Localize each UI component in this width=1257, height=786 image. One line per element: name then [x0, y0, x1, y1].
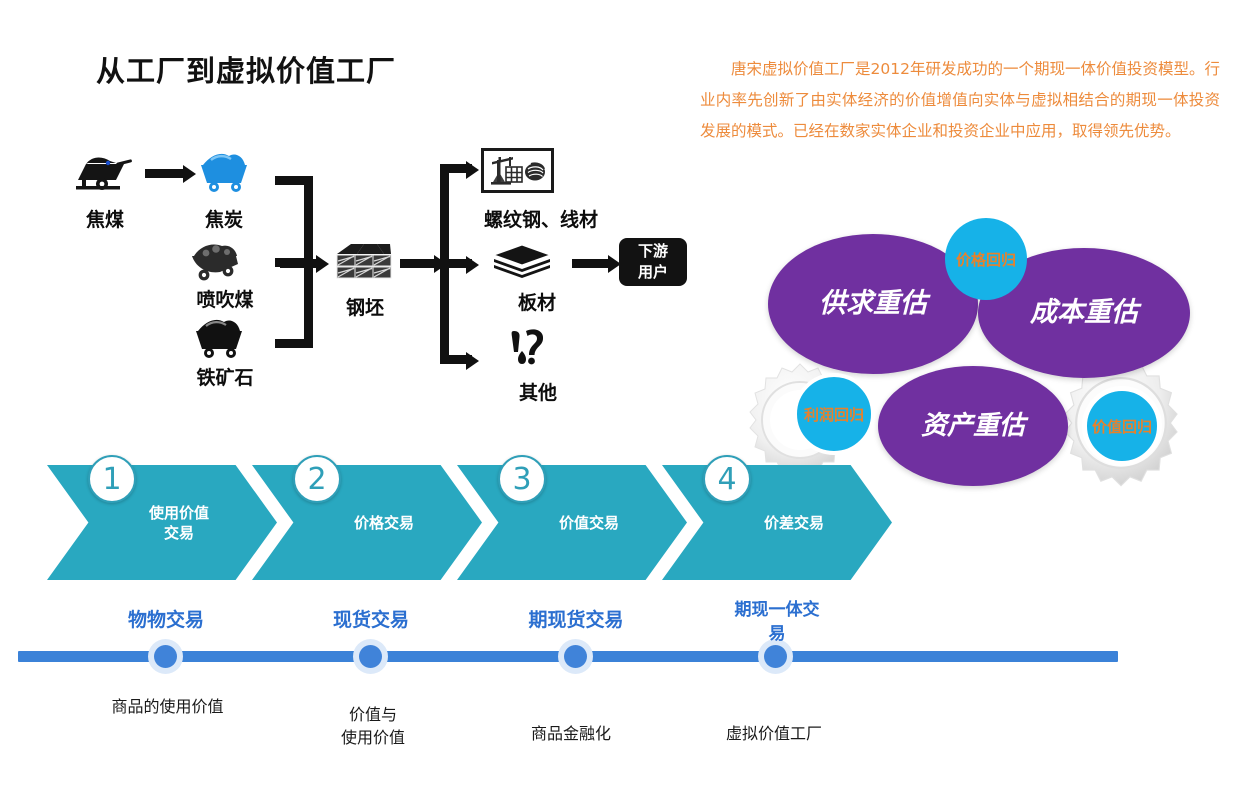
circle-label-2: 价值回归: [1092, 416, 1152, 437]
timeline-desc-3: 虚拟价值工厂: [700, 722, 848, 745]
timeline-dot-2[interactable]: [353, 639, 388, 674]
process-step-4[interactable]: 价差交易: [662, 465, 892, 580]
process-step-2[interactable]: 价格交易: [252, 465, 482, 580]
downstream-users-box: 下游 用户: [619, 238, 687, 286]
process-step-label-1: 价格交易: [320, 513, 414, 533]
process-step-label-3: 价差交易: [730, 513, 824, 533]
timeline-title-1: 现货交易: [300, 608, 442, 632]
process-step-label-0: 使用价值 交易: [115, 503, 209, 543]
steel-billet-icon: [333, 240, 395, 288]
arrow-inputs-to-billet: [280, 253, 332, 273]
flow-output-label-1: 板材: [495, 288, 579, 315]
pulverized-coal-cart-icon: [186, 238, 250, 286]
timeline-dot-inner-1: [154, 645, 177, 668]
process-step-number-1: 1: [88, 455, 136, 503]
page-title: 从工厂到虚拟价值工厂: [96, 48, 396, 90]
circle-label-1: 利润回归: [804, 404, 864, 425]
process-step-number-4: 4: [703, 455, 751, 503]
arrow-coal-to-coke: [145, 163, 199, 183]
timeline-title-2: 期现货交易: [495, 608, 657, 632]
circle-value-return: 价值回归: [1082, 386, 1162, 466]
timeline-title-0: 物物交易: [95, 608, 237, 632]
steel-plate-icon: [490, 243, 554, 287]
timeline-dot-inner-4: [764, 645, 787, 668]
coal-wheelbarrow-icon: [72, 150, 134, 196]
process-step-3[interactable]: 价值交易: [457, 465, 687, 580]
flow-output-label-0: 螺纹钢、线材: [451, 205, 631, 232]
intro-paragraph: 唐宋虚拟价值工厂是2012年研发成功的一个期现一体价值投资模型。行业内率先创新了…: [700, 54, 1220, 147]
flow-input-label-0: 焦煤: [60, 205, 150, 232]
process-step-1[interactable]: 使用价值 交易: [47, 465, 277, 580]
arrow-to-plate: [462, 254, 484, 274]
arrow-to-other: [462, 350, 484, 370]
rebar-wirerod-icon: [481, 148, 554, 193]
flow-output-label-2: 其他: [498, 378, 578, 405]
timeline-desc-2: 商品金融化: [497, 722, 645, 745]
infographic-canvas: 从工厂到虚拟价值工厂 唐宋虚拟价值工厂是2012年研发成功的一个期现一体价值投资…: [0, 0, 1257, 786]
process-step-label-2: 价值交易: [525, 513, 619, 533]
iron-ore-cart-icon: [190, 313, 248, 363]
arrow-to-downstream: [572, 253, 624, 273]
ellipse-asset: 资产重估: [878, 366, 1068, 486]
ellipse-label-2: 资产重估: [920, 412, 1026, 441]
timeline-desc-1: 价值与 使用价值: [318, 703, 428, 749]
process-step-number-2: 2: [293, 455, 341, 503]
timeline-dot-inner-3: [564, 645, 587, 668]
timeline-dot-1[interactable]: [148, 639, 183, 674]
flow-input-label-3: 铁矿石: [172, 363, 278, 390]
circle-price-return: 价格回归: [945, 218, 1027, 300]
process-step-number-3: 3: [498, 455, 546, 503]
circle-label-0: 价格回归: [956, 249, 1016, 270]
timeline-dot-inner-2: [359, 645, 382, 668]
timeline-dot-3[interactable]: [558, 639, 593, 674]
timeline-desc-0: 商品的使用价值: [85, 695, 250, 718]
circle-profit-return: 利润回归: [793, 373, 875, 455]
timeline-title-3: 期现一体交 易: [718, 598, 836, 646]
question-mark-icon: [506, 325, 558, 385]
ellipse-label-0: 供求重估: [818, 289, 928, 319]
flow-middle-label: 钢坯: [323, 293, 407, 320]
ellipse-label-1: 成本重估: [1029, 298, 1139, 328]
